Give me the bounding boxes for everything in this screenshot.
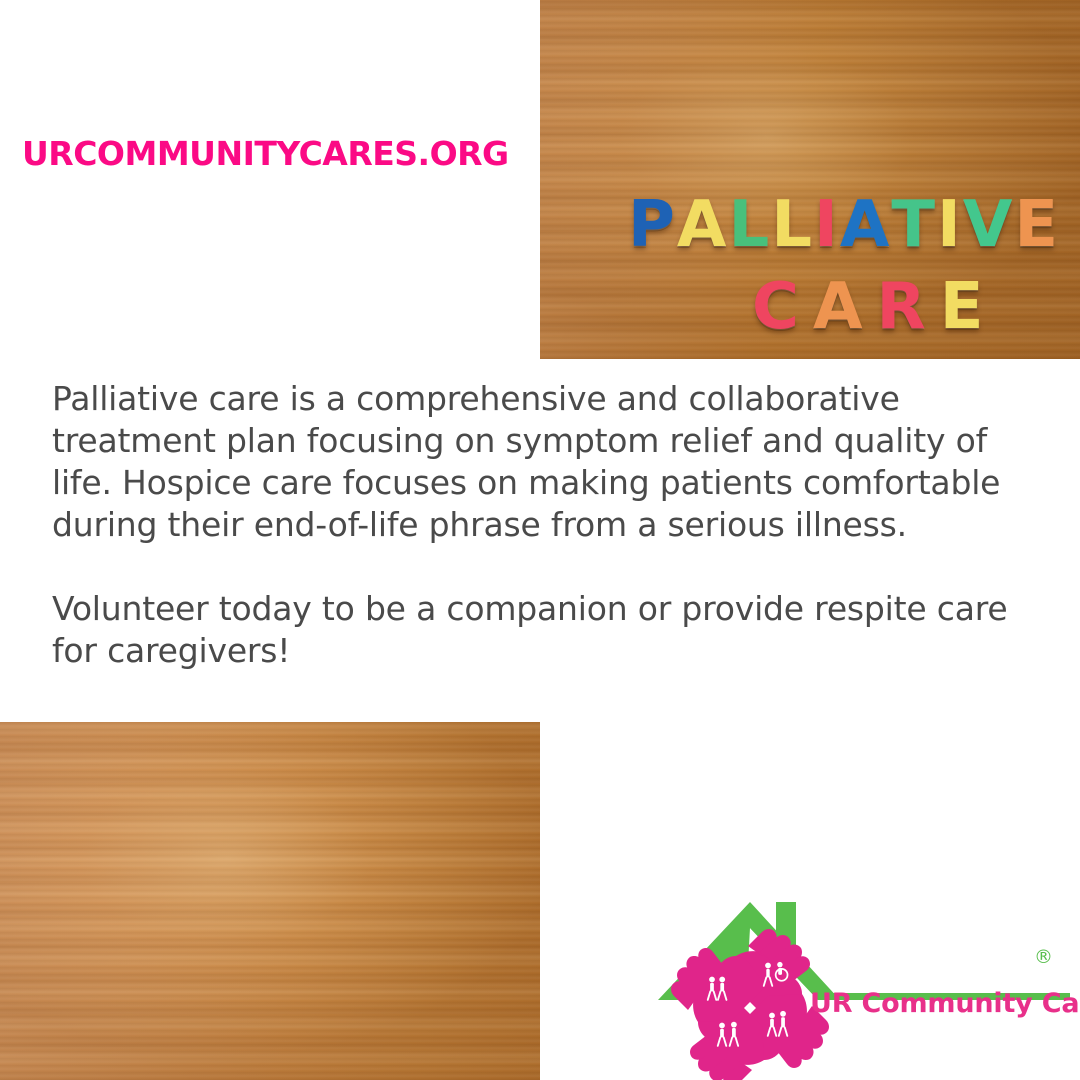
- foam-letter: A: [677, 193, 727, 257]
- foam-letters-care: CARE: [752, 275, 984, 339]
- foam-letter: A: [840, 193, 890, 257]
- foam-letter: T: [891, 193, 935, 257]
- four-hands-pinwheel-icon: [671, 929, 829, 1080]
- foam-letter: L: [728, 193, 769, 257]
- foam-letter: I: [814, 193, 838, 257]
- body-copy: Palliative care is a comprehensive and c…: [52, 378, 1032, 672]
- paragraph-volunteer-call-to-action: Volunteer today to be a companion or pro…: [52, 588, 1032, 672]
- foam-letters-palliative: PALLIATIVE: [628, 193, 1058, 257]
- foam-letter: C: [752, 275, 799, 339]
- logo-wordmark: UR Community Cares: [810, 988, 1080, 1019]
- hospice-photo: HOSPICE: [0, 722, 540, 1080]
- foam-letter: E: [940, 275, 984, 339]
- logo-mark: [650, 888, 1070, 1080]
- paragraph-spacer: [52, 546, 1032, 588]
- foam-letter: L: [771, 193, 812, 257]
- photo-lighting-overlay: [0, 722, 540, 1080]
- paragraph-palliative-definition: Palliative care is a comprehensive and c…: [52, 378, 1032, 546]
- registered-trademark-icon: ®: [1034, 946, 1053, 968]
- foam-letter: R: [877, 275, 926, 339]
- foam-letter: P: [628, 193, 675, 257]
- poster-canvas: URCOMMUNITYCARES.ORG: [0, 0, 1080, 1080]
- foam-letter: A: [813, 275, 863, 339]
- foam-letter: V: [963, 193, 1013, 257]
- ur-community-cares-logo[interactable]: UR Community Cares ®: [650, 888, 1070, 1080]
- palliative-care-photo: PALLIATIVE CARE: [540, 0, 1080, 359]
- foam-letter: I: [937, 193, 961, 257]
- foam-letter: E: [1014, 193, 1058, 257]
- website-url-headline: URCOMMUNITYCARES.ORG: [22, 134, 509, 173]
